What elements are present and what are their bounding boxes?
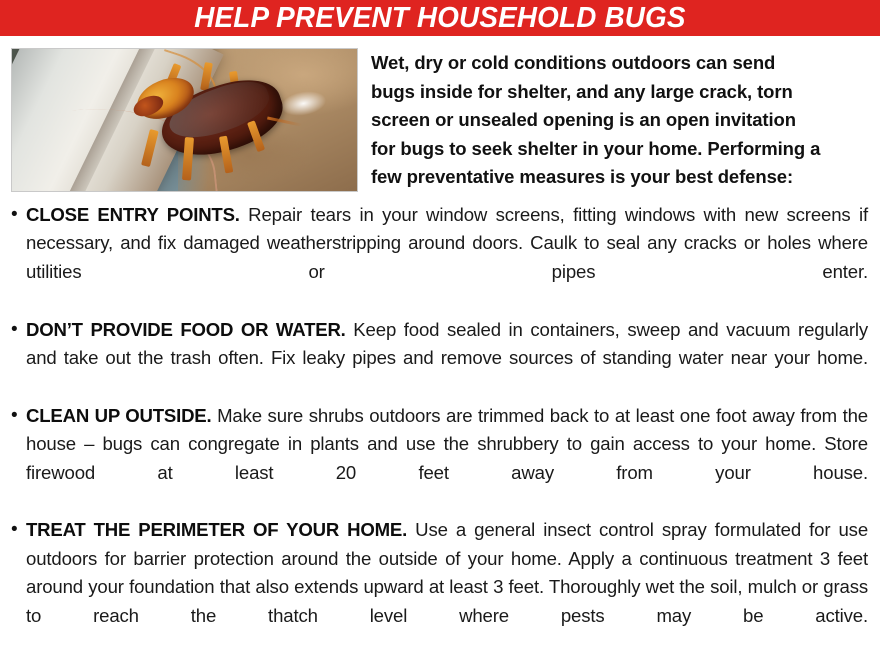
tip-item-close-entry-points: • CLOSE ENTRY POINTS. Repair tears in yo… (11, 201, 868, 315)
bullet-icon: • (11, 201, 26, 229)
tip-heading: CLOSE ENTRY POINTS. (26, 204, 240, 225)
tip-text: CLEAN UP OUTSIDE. Make sure shrubs outdo… (26, 402, 868, 516)
intro-line: for bugs to seek shelter in your home. P… (371, 135, 868, 164)
intro-line: bugs inside for shelter, and any large c… (371, 78, 868, 107)
page-title: HELP PREVENT HOUSEHOLD BUGS (194, 3, 685, 34)
bullet-icon: • (11, 402, 26, 430)
bullet-icon: • (11, 516, 26, 544)
header-banner: HELP PREVENT HOUSEHOLD BUGS (0, 0, 880, 36)
intro-section: Wet, dry or cold conditions outdoors can… (0, 36, 880, 192)
intro-line: Wet, dry or cold conditions outdoors can… (371, 49, 868, 78)
tip-item-treat-the-perimeter-of-your-home: • TREAT THE PERIMETER OF YOUR HOME. Use … (11, 516, 868, 658)
tip-item-clean-up-outside: • CLEAN UP OUTSIDE. Make sure shrubs out… (11, 402, 868, 516)
tip-heading: CLEAN UP OUTSIDE. (26, 405, 211, 426)
tip-item-dont-provide-food-or-water: • DON’T PROVIDE FOOD OR WATER. Keep food… (11, 316, 868, 401)
tip-heading: TREAT THE PERIMETER OF YOUR HOME. (26, 519, 407, 540)
bullet-icon: • (11, 316, 26, 344)
intro-line: screen or unsealed opening is an open in… (371, 106, 868, 135)
photo-scene (12, 49, 357, 191)
intro-line: few preventative measures is your best d… (371, 163, 868, 192)
tip-heading: DON’T PROVIDE FOOD OR WATER. (26, 319, 346, 340)
tip-text: DON’T PROVIDE FOOD OR WATER. Keep food s… (26, 316, 868, 401)
tip-text: TREAT THE PERIMETER OF YOUR HOME. Use a … (26, 516, 868, 658)
tip-text: CLOSE ENTRY POINTS. Repair tears in your… (26, 201, 868, 315)
tips-list: • CLOSE ENTRY POINTS. Repair tears in yo… (0, 192, 880, 659)
cockroach-photo (11, 48, 358, 192)
intro-paragraph: Wet, dry or cold conditions outdoors can… (371, 48, 868, 192)
